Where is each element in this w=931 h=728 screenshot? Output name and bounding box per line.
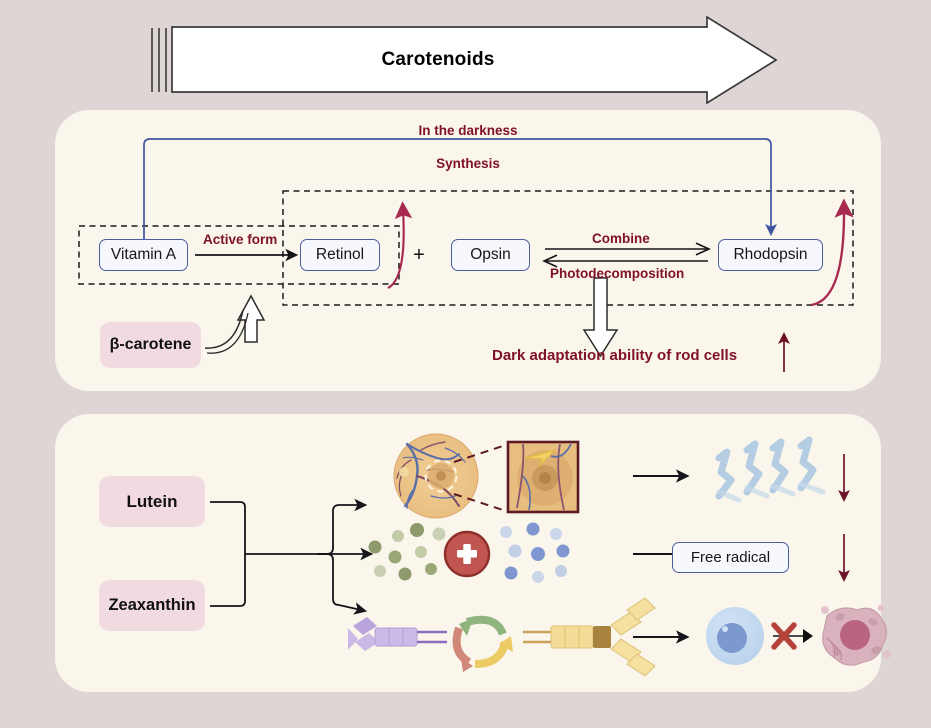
node-rhodopsin[interactable]: Rhodopsin: [718, 239, 823, 271]
plus-operator: +: [408, 239, 430, 271]
lutein-zeaxanthin-effects-panel: Lutein Zeaxanthin Free radical: [55, 414, 881, 692]
banner-title: Carotenoids: [148, 16, 728, 104]
chip-zeaxanthin[interactable]: Zeaxanthin: [99, 580, 205, 631]
conversion-cycle-arrows: [457, 618, 513, 672]
label-synthesis: Synthesis: [55, 156, 881, 171]
label-in-the-darkness: In the darkness: [55, 123, 881, 138]
label-dark-adaptation: Dark adaptation ability of rod cells: [492, 347, 737, 364]
blue-light-rays: [719, 440, 823, 500]
label-photodecomposition: Photodecomposition: [550, 266, 684, 281]
carotenoids-banner-arrow: Carotenoids: [148, 16, 778, 104]
protein-purple: [348, 617, 447, 651]
node-free-radical[interactable]: Free radical: [672, 542, 789, 573]
node-opsin[interactable]: Opsin: [451, 239, 530, 271]
chip-lutein[interactable]: Lutein: [99, 476, 205, 527]
diagram-canvas: Carotenoids: [0, 0, 931, 728]
chip-beta-carotene[interactable]: β-carotene: [100, 322, 201, 368]
pigment-dots-blue: [500, 523, 570, 584]
progenitor-cell-blue: [706, 607, 764, 665]
vitamin-a-rhodopsin-cycle-panel: In the darkness Synthesis Active form Co…: [55, 110, 881, 391]
label-active-form: Active form: [203, 232, 277, 247]
blocked-marker: [773, 625, 813, 647]
differentiated-cell-pink: [821, 605, 891, 666]
retina-fundus-illustration: [394, 434, 478, 518]
macula-zoom-callout: [508, 442, 578, 512]
node-retinol[interactable]: Retinol: [300, 239, 380, 271]
reaction-plus-badge: [445, 532, 489, 576]
label-combine: Combine: [592, 231, 650, 246]
pigment-dots-green: [369, 523, 446, 581]
node-vitamin-a[interactable]: Vitamin A: [99, 239, 188, 271]
